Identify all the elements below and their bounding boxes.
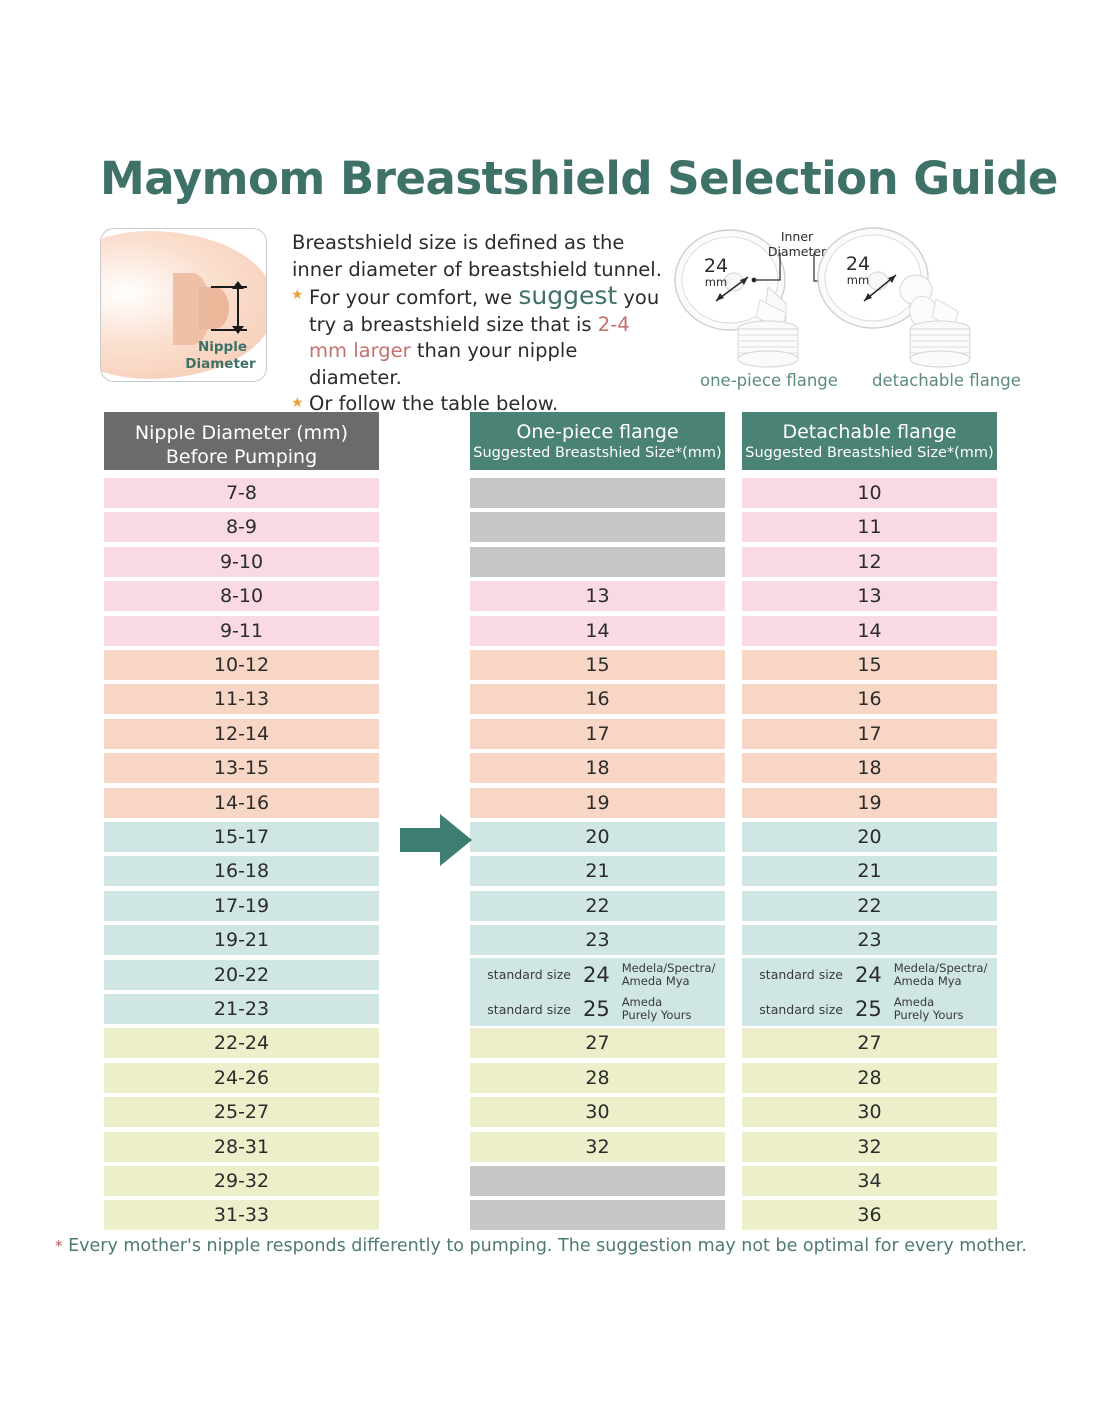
bullet1-text-a: For your comfort, we (309, 286, 518, 309)
standard-size-value: 24 (583, 963, 610, 987)
nipple-label-line2: Diameter (179, 356, 262, 373)
table-cell-detachable: 10 (742, 478, 997, 508)
table-cell-one-piece-unavailable (470, 547, 725, 577)
table-cell-nipple-diameter: 15-17 (104, 822, 379, 852)
table-cell-detachable: 18 (742, 753, 997, 783)
dimension-arrow-down-icon (232, 326, 244, 334)
brand-line-2: Ameda Mya (894, 974, 962, 988)
brand-line-2: Purely Yours (894, 1008, 964, 1022)
table-cell-nipple-diameter: 25-27 (104, 1097, 379, 1127)
table-cell-nipple-diameter: 12-14 (104, 719, 379, 749)
standard-size-value: 25 (583, 997, 610, 1021)
table-cell-one-piece-unavailable (470, 512, 725, 542)
table-cell-one-piece-unavailable (470, 1166, 725, 1196)
column-header-one-piece-flange: One-piece flange Suggested Breastshied S… (470, 412, 725, 470)
table-cell-detachable: 27 (742, 1028, 997, 1058)
intro-bullet-1: ★ For your comfort, we suggest you try a… (292, 283, 670, 391)
table-cell-one-piece: 28 (470, 1063, 725, 1093)
caption-detachable-flange: detachable flange (872, 371, 1021, 390)
table-cell-nipple-diameter: 21-23 (104, 994, 379, 1024)
one-piece-size-unit: mm (705, 275, 727, 289)
table-cell-detachable: 23 (742, 925, 997, 955)
header-left-line1: Nipple Diameter (mm) (104, 421, 379, 445)
standard-size-value: 24 (855, 963, 882, 987)
table-cell-one-piece-unavailable (470, 1200, 725, 1230)
table-cell-detachable: 17 (742, 719, 997, 749)
header-right-line2: Suggested Breastshied Size*(mm) (742, 444, 997, 463)
brand-line-1: Medela/Spectra/ (894, 961, 988, 975)
table-cell-nipple-diameter: 9-11 (104, 616, 379, 646)
brand-line-1: Ameda (894, 995, 935, 1009)
table-cell-detachable: 13 (742, 581, 997, 611)
table-cell-detachable: 16 (742, 684, 997, 714)
brand-line-2: Ameda Mya (622, 974, 690, 988)
brand-line-1: Ameda (622, 995, 663, 1009)
flange-diagram: Inner Diameter 24 mm 24 mm (668, 225, 1020, 390)
table-cell-one-piece: 18 (470, 753, 725, 783)
table-cell-one-piece: 20 (470, 822, 725, 852)
table-cell-nipple-diameter: 8-9 (104, 512, 379, 542)
star-bullet-icon: ★ (291, 288, 304, 302)
table-cell-detachable: 34 (742, 1166, 997, 1196)
table-cell-nipple-diameter: 8-10 (104, 581, 379, 611)
table-cell-nipple-diameter: 13-15 (104, 753, 379, 783)
table-cell-one-piece: 21 (470, 856, 725, 886)
bullet1-text-b: you (617, 286, 659, 309)
table-cell-one-piece: 13 (470, 581, 725, 611)
table-cell-nipple-diameter: 28-31 (104, 1132, 379, 1162)
table-cell-detachable: 32 (742, 1132, 997, 1162)
footnote: * Every mother's nipple responds differe… (55, 1236, 1027, 1256)
footnote-star-icon: * (55, 1237, 63, 1255)
header-mid-line1: One-piece flange (470, 421, 725, 444)
column-header-nipple-diameter: Nipple Diameter (mm) Before Pumping (104, 412, 379, 470)
table-cell-detachable: 14 (742, 616, 997, 646)
bullet1-larger-emphasis: larger (353, 339, 410, 362)
table-cell-nipple-diameter: 22-24 (104, 1028, 379, 1058)
table-cell-nipple-diameter: 11-13 (104, 684, 379, 714)
inner-diameter-label-line1: Inner (781, 229, 814, 244)
table-cell-detachable: 20 (742, 822, 997, 852)
standard-size-brand: AmedaPurely Yours (894, 996, 980, 1022)
standard-size-brand: AmedaPurely Yours (622, 996, 708, 1022)
intro-line-1: Breastshield size is defined as the (292, 230, 670, 257)
table-cell-one-piece-standard: standard size24Medela/Spectra/Ameda Mya (470, 958, 725, 992)
nipple-shape (199, 287, 229, 329)
intro-text-block: Breastshield size is defined as the inne… (292, 230, 670, 418)
pointer-arrow-icon (400, 812, 472, 868)
table-cell-nipple-diameter: 24-26 (104, 1063, 379, 1093)
bullet1-text-c: try a breastshield size that is (309, 313, 598, 336)
table-cell-nipple-diameter: 9-10 (104, 547, 379, 577)
detachable-flange-drawing (818, 228, 970, 367)
standard-size-value: 25 (855, 997, 882, 1021)
column-header-detachable-flange: Detachable flange Suggested Breastshied … (742, 412, 997, 470)
brand-line-1: Medela/Spectra/ (622, 961, 716, 975)
dimension-line (237, 286, 239, 330)
standard-size-brand: Medela/Spectra/Ameda Mya (894, 962, 980, 988)
brand-line-2: Purely Yours (622, 1008, 692, 1022)
header-left-line2: Before Pumping (104, 445, 379, 469)
table-cell-detachable: 15 (742, 650, 997, 680)
table-cell-one-piece: 16 (470, 684, 725, 714)
bullet1-text-d: than your nipple diameter. (309, 339, 577, 389)
bullet1-suggest-emphasis: suggest (518, 281, 617, 310)
table-cell-one-piece: 22 (470, 891, 725, 921)
dimension-arrow-up-icon (232, 281, 244, 289)
table-cell-one-piece: 23 (470, 925, 725, 955)
standard-size-tag: standard size (759, 967, 843, 982)
table-cell-one-piece-standard: standard size25AmedaPurely Yours (470, 992, 725, 1026)
table-cell-nipple-diameter: 19-21 (104, 925, 379, 955)
one-piece-size-value: 24 (704, 255, 728, 277)
table-cell-one-piece: 32 (470, 1132, 725, 1162)
table-cell-detachable: 21 (742, 856, 997, 886)
table-cell-one-piece: 14 (470, 616, 725, 646)
header-mid-line2: Suggested Breastshied Size*(mm) (470, 444, 725, 463)
table-cell-one-piece: 17 (470, 719, 725, 749)
table-cell-nipple-diameter: 10-12 (104, 650, 379, 680)
star-bullet-icon: ★ (291, 396, 304, 410)
detachable-size-value: 24 (846, 253, 870, 275)
table-cell-detachable-standard: standard size24Medela/Spectra/Ameda Mya (742, 958, 997, 992)
table-cell-detachable: 12 (742, 547, 997, 577)
footnote-text: Every mother's nipple responds different… (68, 1236, 1027, 1256)
table-cell-nipple-diameter: 20-22 (104, 960, 379, 990)
detachable-size-unit: mm (847, 273, 869, 287)
table-cell-nipple-diameter: 31-33 (104, 1200, 379, 1230)
table-cell-detachable: 19 (742, 788, 997, 818)
table-cell-nipple-diameter: 14-16 (104, 788, 379, 818)
table-cell-one-piece-unavailable (470, 478, 725, 508)
table-cell-one-piece: 19 (470, 788, 725, 818)
standard-size-tag: standard size (487, 967, 571, 982)
table-cell-one-piece: 15 (470, 650, 725, 680)
table-cell-detachable: 30 (742, 1097, 997, 1127)
standard-size-tag: standard size (487, 1002, 571, 1017)
standard-size-brand: Medela/Spectra/Ameda Mya (622, 962, 708, 988)
header-right-line1: Detachable flange (742, 421, 997, 444)
table-cell-nipple-diameter: 7-8 (104, 478, 379, 508)
table-cell-one-piece: 30 (470, 1097, 725, 1127)
page-title: Maymom Breastshield Selection Guide (100, 152, 1058, 205)
inner-diameter-label-line2: Diameter (768, 244, 827, 259)
nipple-diameter-illustration: Nipple Diameter (100, 228, 267, 382)
table-cell-detachable: 11 (742, 512, 997, 542)
table-cell-detachable-standard: standard size25AmedaPurely Yours (742, 992, 997, 1026)
flange-diagram-svg: Inner Diameter 24 mm 24 mm (668, 225, 1020, 390)
nipple-label-line1: Nipple (183, 339, 262, 356)
table-cell-one-piece: 27 (470, 1028, 725, 1058)
table-cell-detachable: 22 (742, 891, 997, 921)
table-cell-nipple-diameter: 29-32 (104, 1166, 379, 1196)
table-cell-detachable: 36 (742, 1200, 997, 1230)
intro-line-2: inner diameter of breastshield tunnel. (292, 257, 670, 284)
caption-one-piece-flange: one-piece flange (700, 371, 838, 390)
table-cell-nipple-diameter: 17-19 (104, 891, 379, 921)
table-cell-detachable: 28 (742, 1063, 997, 1093)
standard-size-tag: standard size (759, 1002, 843, 1017)
table-cell-nipple-diameter: 16-18 (104, 856, 379, 886)
